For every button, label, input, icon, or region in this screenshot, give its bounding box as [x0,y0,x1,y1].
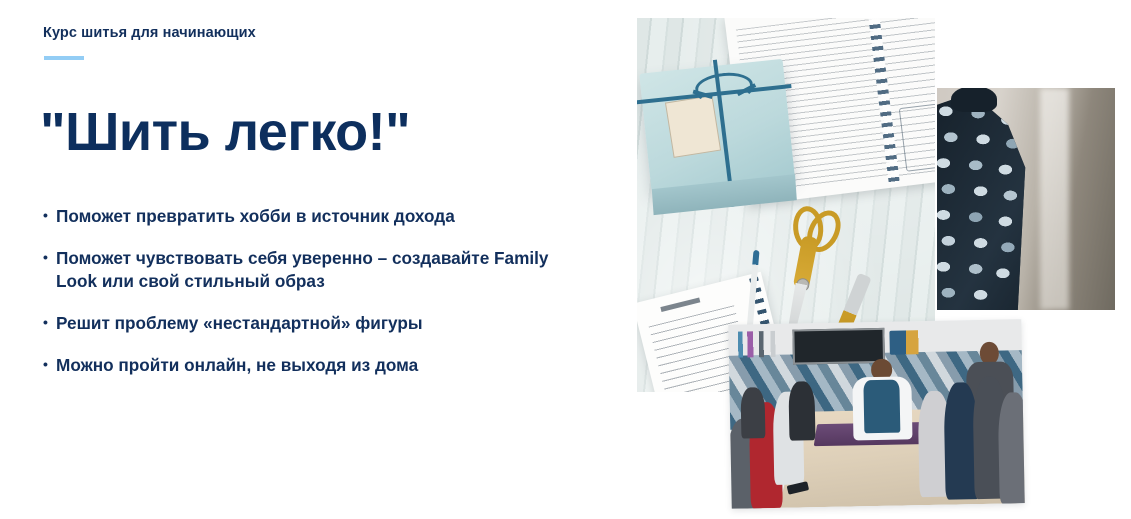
photo-garment-dress-form [937,88,1115,310]
notepad-title-line [660,297,700,312]
students-right-group [917,371,1025,506]
shelf-bottles [734,331,793,358]
photo-collage [0,0,1131,519]
promo-slide: Курс шитья для начинающих "Шить легко!" … [0,0,1131,519]
student-figure [997,392,1024,504]
dress-collar [951,88,997,112]
students-left-group [728,378,828,509]
photo-sewing-workshop [728,319,1024,509]
gift-box [639,59,795,191]
shelf-cups [890,330,931,355]
instructor [849,358,915,440]
student-figure [740,387,765,439]
instructor-vest [864,379,901,433]
ribbon-bow [694,70,755,104]
student-figure [788,381,815,441]
gift-tag [665,95,721,158]
